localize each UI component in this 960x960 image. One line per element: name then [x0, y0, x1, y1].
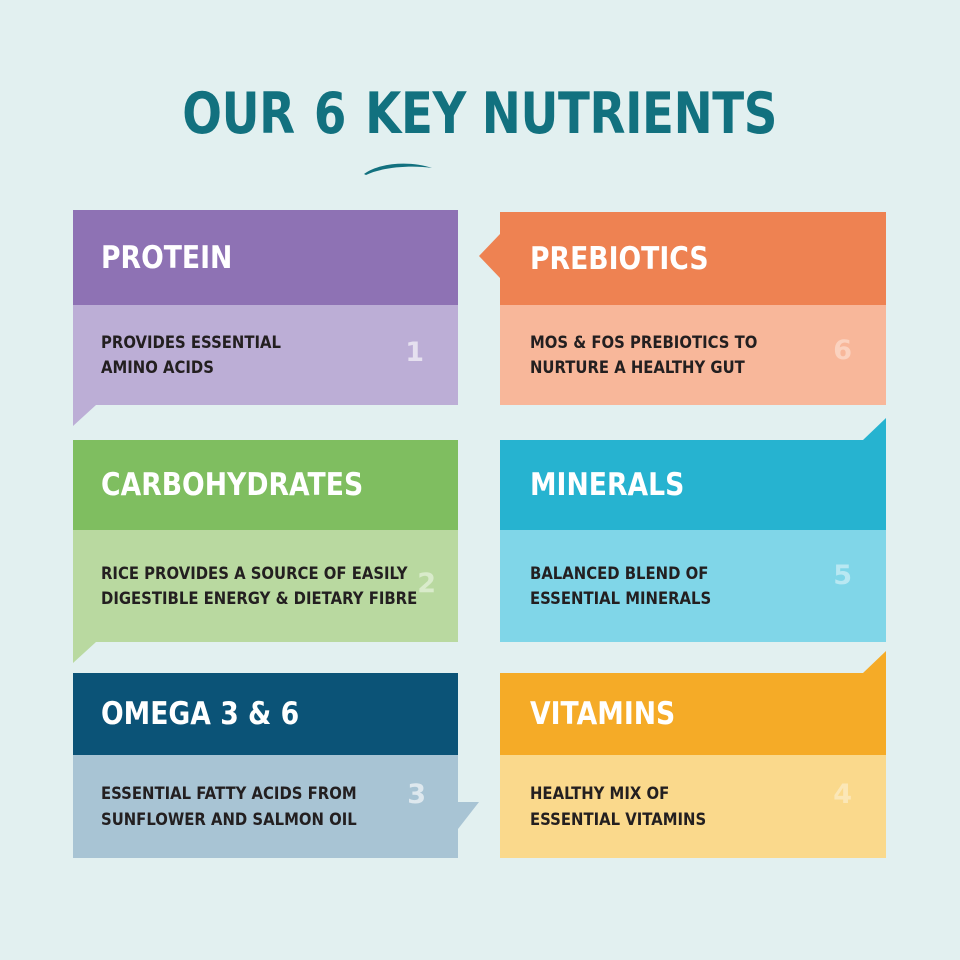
- card-header-protein: PROTEIN: [73, 210, 458, 305]
- page-title-prefix: OUR: [183, 81, 311, 147]
- card-description-carbohydrates: RICE PROVIDES A SOURCE OF EASILY DIGESTI…: [101, 561, 417, 611]
- card-number-vitamins: 4: [833, 781, 852, 808]
- nutrient-card-prebiotics[interactable]: PREBIOTICS MOS & FOS PREBIOTICS TO NURTU…: [500, 212, 886, 405]
- card-description-protein: PROVIDES ESSENTIAL AMINO ACIDS: [101, 330, 281, 380]
- card-title-vitamins: VITAMINS: [530, 696, 675, 732]
- card-description-prebiotics: MOS & FOS PREBIOTICS TO NURTURE A HEALTH…: [530, 330, 757, 380]
- pointer-down-icon: [73, 642, 123, 663]
- card-header-vitamins: VITAMINS: [500, 673, 886, 755]
- card-header-carbohydrates: CARBOHYDRATES: [73, 440, 458, 530]
- nutrient-card-omega[interactable]: OMEGA 3 & 6 ESSENTIAL FATTY ACIDS FROM S…: [73, 673, 458, 858]
- pointer-left-icon: [479, 234, 500, 278]
- card-body-omega: ESSENTIAL FATTY ACIDS FROM SUNFLOWER AND…: [73, 755, 458, 858]
- page-title-number: 6: [311, 86, 350, 143]
- card-description-vitamins: HEALTHY MIX OF ESSENTIAL VITAMINS: [530, 781, 706, 831]
- card-header-omega: OMEGA 3 & 6: [73, 673, 458, 755]
- page-title-text: OUR 6 KEY NUTRIENTS: [183, 86, 778, 143]
- card-description-minerals: BALANCED BLEND OF ESSENTIAL MINERALS: [530, 561, 711, 611]
- pointer-up-icon: [836, 651, 886, 673]
- card-description-omega: ESSENTIAL FATTY ACIDS FROM SUNFLOWER AND…: [101, 781, 357, 831]
- nutrient-card-protein[interactable]: PROTEIN PROVIDES ESSENTIAL AMINO ACIDS 1: [73, 210, 458, 405]
- pointer-right-icon: [458, 802, 479, 858]
- nutrient-card-vitamins[interactable]: VITAMINS HEALTHY MIX OF ESSENTIAL VITAMI…: [500, 673, 886, 858]
- card-title-protein: PROTEIN: [101, 240, 232, 276]
- nutrient-card-minerals[interactable]: MINERALS BALANCED BLEND OF ESSENTIAL MIN…: [500, 440, 886, 642]
- card-title-prebiotics: PREBIOTICS: [530, 241, 709, 277]
- card-body-minerals: BALANCED BLEND OF ESSENTIAL MINERALS 5: [500, 530, 886, 642]
- card-title-carbohydrates: CARBOHYDRATES: [101, 467, 363, 503]
- card-body-vitamins: HEALTHY MIX OF ESSENTIAL VITAMINS 4: [500, 755, 886, 858]
- pointer-up-icon: [836, 418, 886, 440]
- card-number-omega: 3: [407, 781, 426, 808]
- nutrient-card-carbohydrates[interactable]: CARBOHYDRATES RICE PROVIDES A SOURCE OF …: [73, 440, 458, 642]
- card-number-protein: 1: [405, 339, 424, 366]
- title-underline-swoosh: [362, 160, 434, 176]
- card-body-prebiotics: MOS & FOS PREBIOTICS TO NURTURE A HEALTH…: [500, 305, 886, 405]
- page-title: OUR 6 KEY NUTRIENTS: [0, 86, 960, 143]
- pointer-down-icon: [73, 405, 123, 426]
- card-header-prebiotics: PREBIOTICS: [500, 212, 886, 305]
- page-title-suffix: KEY NUTRIENTS: [350, 81, 778, 147]
- card-body-carbohydrates: RICE PROVIDES A SOURCE OF EASILY DIGESTI…: [73, 530, 458, 642]
- card-number-prebiotics: 6: [833, 337, 852, 364]
- card-header-minerals: MINERALS: [500, 440, 886, 530]
- card-title-minerals: MINERALS: [530, 467, 684, 503]
- nutrients-infographic: OUR 6 KEY NUTRIENTS PROTEIN PROVIDES ESS…: [0, 0, 960, 960]
- card-title-omega: OMEGA 3 & 6: [101, 696, 299, 732]
- card-body-protein: PROVIDES ESSENTIAL AMINO ACIDS 1: [73, 305, 458, 405]
- card-number-carbohydrates: 2: [417, 570, 436, 597]
- card-number-minerals: 5: [833, 562, 852, 589]
